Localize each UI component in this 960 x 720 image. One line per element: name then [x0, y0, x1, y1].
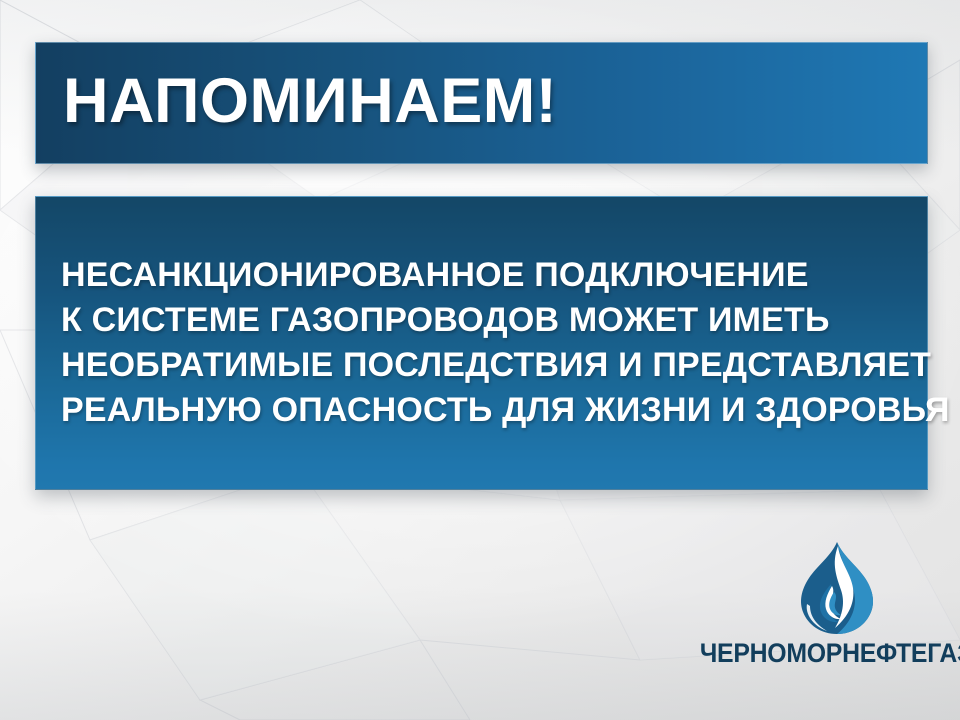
message-line-3: НЕОБРАТИМЫЕ ПОСЛЕДСТВИЯ И ПРЕДСТАВЛЯЕТ	[61, 343, 927, 388]
logo-wordmark: ЧЕРНОМОРНЕФТЕГАЗ	[700, 640, 960, 667]
flame-droplet-icon	[791, 540, 883, 636]
warning-message-panel: НЕСАНКЦИОНИРОВАННОЕ ПОДКЛЮЧЕНИЕ К СИСТЕМ…	[35, 196, 928, 490]
message-line-2: К СИСТЕМЕ ГАЗОПРОВОДОВ МОЖЕТ ИМЕТЬ	[61, 298, 927, 343]
page-title: НАПОМИНАЕМ!	[36, 70, 557, 133]
company-logo: ЧЕРНОМОРНЕФТЕГАЗ	[734, 540, 939, 668]
header-banner: НАПОМИНАЕМ!	[35, 42, 928, 164]
message-line-1: НЕСАНКЦИОНИРОВАННОЕ ПОДКЛЮЧЕНИЕ	[61, 253, 927, 298]
message-line-4: РЕАЛЬНУЮ ОПАСНОСТЬ ДЛЯ ЖИЗНИ И ЗДОРОВЬЯ	[61, 388, 927, 433]
